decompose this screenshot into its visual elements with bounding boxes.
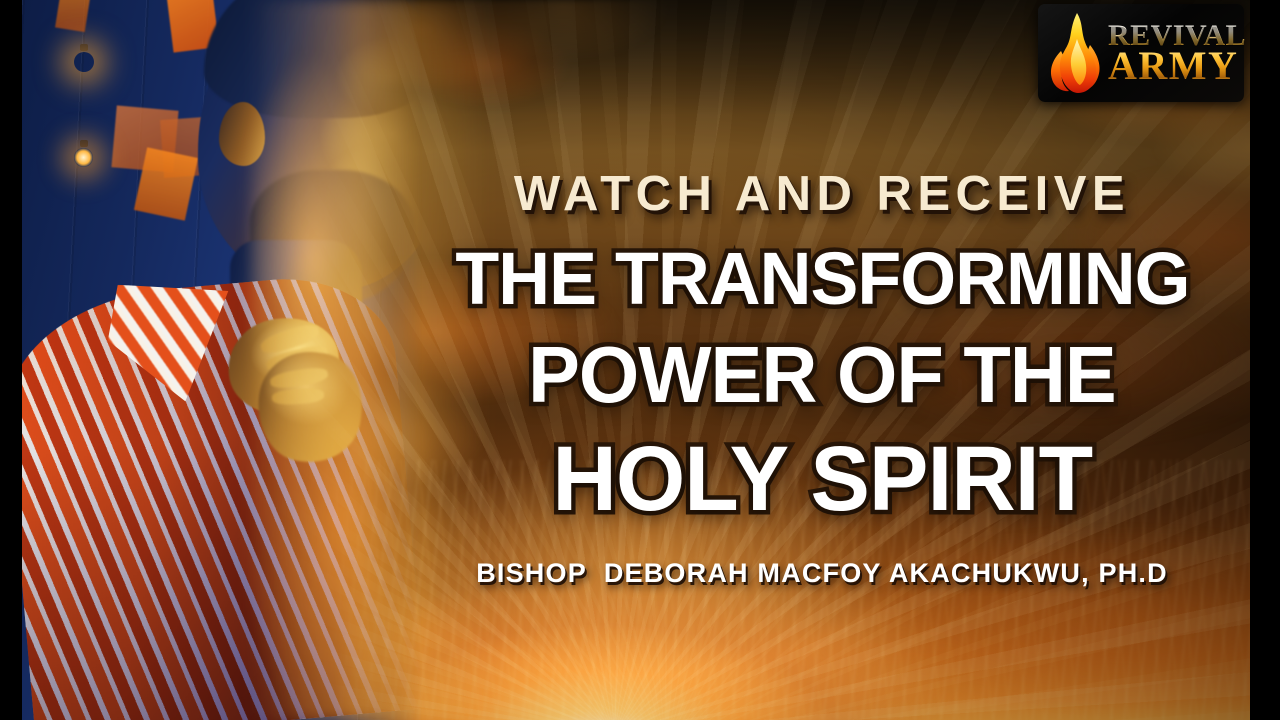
letterbox-bar-right [1250, 0, 1280, 720]
praying-man-photo [22, 0, 422, 720]
bulb-clip [80, 44, 88, 51]
letterbox-bar-left [0, 0, 22, 720]
flame-icon [1044, 11, 1106, 95]
striped-shirt-shading [22, 270, 422, 720]
bulb-clip [80, 140, 88, 147]
subject-hair [204, 0, 422, 118]
thumbnail-canvas: WATCH AND RECEIVE THE TRANSFORMING POWER… [0, 0, 1280, 720]
string-light-bulb [74, 148, 93, 167]
string-light-bulb [74, 52, 94, 72]
subject-ear [219, 102, 265, 166]
logo-wordmark: REVIVAL ARMY [1108, 22, 1246, 84]
revival-army-logo[interactable]: REVIVAL ARMY [1038, 4, 1244, 102]
logo-line-army: ARMY [1108, 47, 1246, 84]
